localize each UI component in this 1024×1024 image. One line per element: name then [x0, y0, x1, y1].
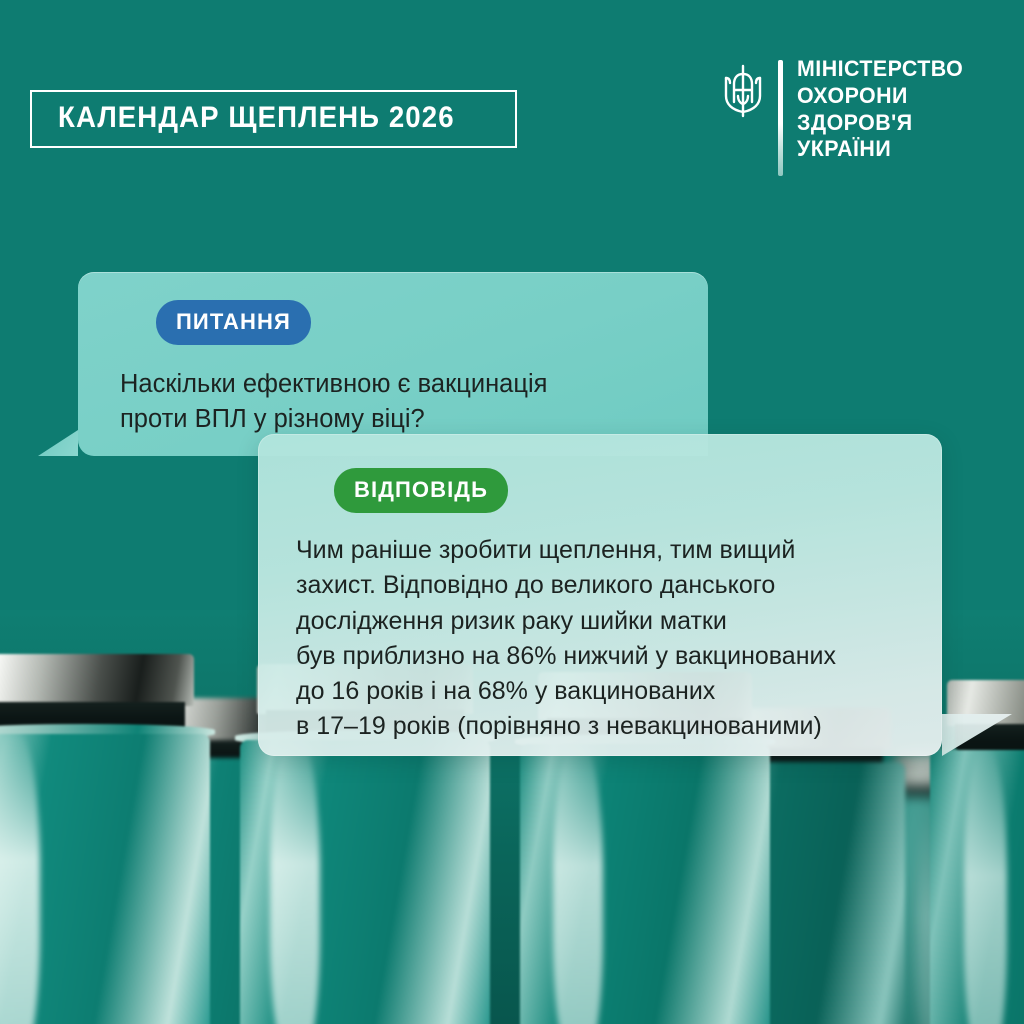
- logo-divider: [778, 60, 783, 176]
- answer-line-5: до 16 років і на 68% у вакцинованих: [296, 674, 904, 709]
- vial-highlight: [553, 744, 603, 1024]
- ministry-name-line-1: МІНІСТЕРСТВО: [797, 56, 963, 83]
- vial-highlight: [964, 750, 1007, 1024]
- vial-body: [930, 750, 1024, 1024]
- answer-line-1: Чим раніше зробити щеплення, тим вищий: [296, 533, 904, 568]
- question-bubble-tail: [38, 430, 78, 456]
- answer-card: ВІДПОВІДЬ Чим раніше зробити щеплення, т…: [258, 434, 942, 756]
- answer-line-3: дослідження ризик раку шийки матки: [296, 604, 904, 639]
- answer-text: Чим раніше зробити щеплення, тим вищий з…: [296, 533, 904, 745]
- vial-front-1: [0, 664, 210, 1024]
- question-text: Наскільки ефективною є вакцинація проти …: [120, 367, 674, 437]
- answer-badge: ВІДПОВІДЬ: [334, 468, 508, 513]
- vial-highlight: [0, 734, 40, 1024]
- ukraine-trident-icon: [722, 62, 764, 125]
- question-badge: ПИТАННЯ: [156, 300, 311, 345]
- vial-body: [240, 740, 490, 1024]
- question-card: ПИТАННЯ Наскільки ефективною є вакцинаці…: [78, 272, 708, 456]
- answer-line-6: в 17–19 років (порівняно з невакциновани…: [296, 709, 904, 744]
- question-line-1: Наскільки ефективною є вакцинація: [120, 367, 674, 402]
- vial-cap: [0, 654, 194, 730]
- poster-canvas: КАЛЕНДАР ЩЕПЛЕНЬ 2026 МІНІСТЕРСТВО: [0, 0, 1024, 1024]
- answer-line-2: захист. Відповідно до великого данського: [296, 568, 904, 603]
- ministry-name: МІНІСТЕРСТВО ОХОРОНИ ЗДОРОВ'Я УКРАЇНИ: [797, 56, 963, 163]
- title-badge: КАЛЕНДАР ЩЕПЛЕНЬ 2026: [30, 90, 517, 148]
- page-title: КАЛЕНДАР ЩЕПЛЕНЬ 2026: [58, 103, 455, 133]
- vial-highlight: [270, 740, 320, 1024]
- question-line-2: проти ВПЛ у різному віці?: [120, 402, 674, 437]
- ministry-name-line-3: ЗДОРОВ'Я: [797, 110, 963, 137]
- answer-line-4: був приблизно на 86% нижчий у вакцинован…: [296, 639, 904, 674]
- vial-cap-metal: [0, 654, 194, 706]
- vial-body: [0, 734, 210, 1024]
- ministry-name-line-2: ОХОРОНИ: [797, 83, 963, 110]
- ministry-name-line-4: УКРАЇНИ: [797, 136, 963, 163]
- vial-body: [520, 744, 770, 1024]
- ministry-logo: МІНІСТЕРСТВО ОХОРОНИ ЗДОРОВ'Я УКРАЇНИ: [722, 56, 972, 176]
